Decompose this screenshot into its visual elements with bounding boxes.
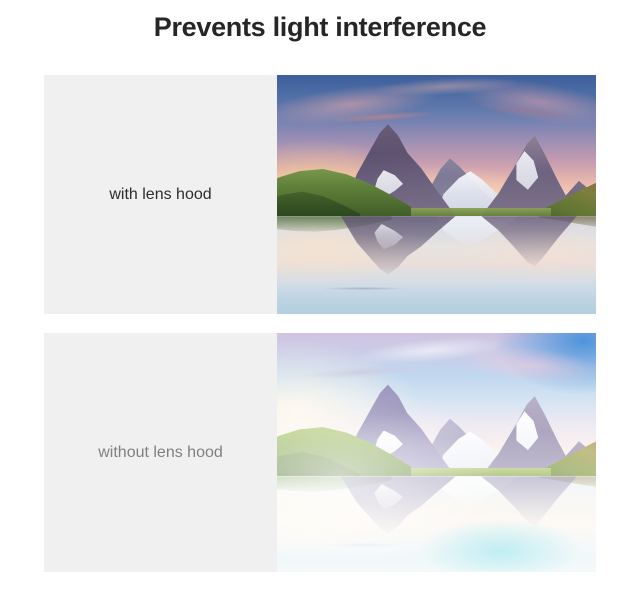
photo-without-lens-hood bbox=[277, 333, 596, 572]
cloud-icon bbox=[302, 364, 417, 381]
lake-reflection bbox=[277, 216, 596, 314]
water-ripple bbox=[322, 543, 405, 547]
lake-reflection bbox=[277, 476, 596, 572]
comparison-row-with-lens-hood: with lens hood bbox=[44, 75, 596, 314]
photo-with-lens-hood bbox=[277, 75, 596, 314]
comparison-label: with lens hood bbox=[109, 185, 211, 205]
comparison-label: without lens hood bbox=[98, 443, 223, 463]
reflection-peak bbox=[341, 476, 456, 535]
comparison-row-without-lens-hood: without lens hood bbox=[44, 333, 596, 572]
label-pane-without-lens-hood: without lens hood bbox=[44, 333, 277, 572]
reflection-peak bbox=[481, 216, 577, 267]
reflection-peak bbox=[341, 216, 456, 277]
label-pane-with-lens-hood: with lens hood bbox=[44, 75, 277, 314]
water-ripple bbox=[322, 287, 405, 291]
comparison-section: with lens hood bbox=[44, 75, 596, 572]
page-title: Prevents light interference bbox=[0, 10, 640, 44]
reflection-peak bbox=[481, 476, 577, 526]
